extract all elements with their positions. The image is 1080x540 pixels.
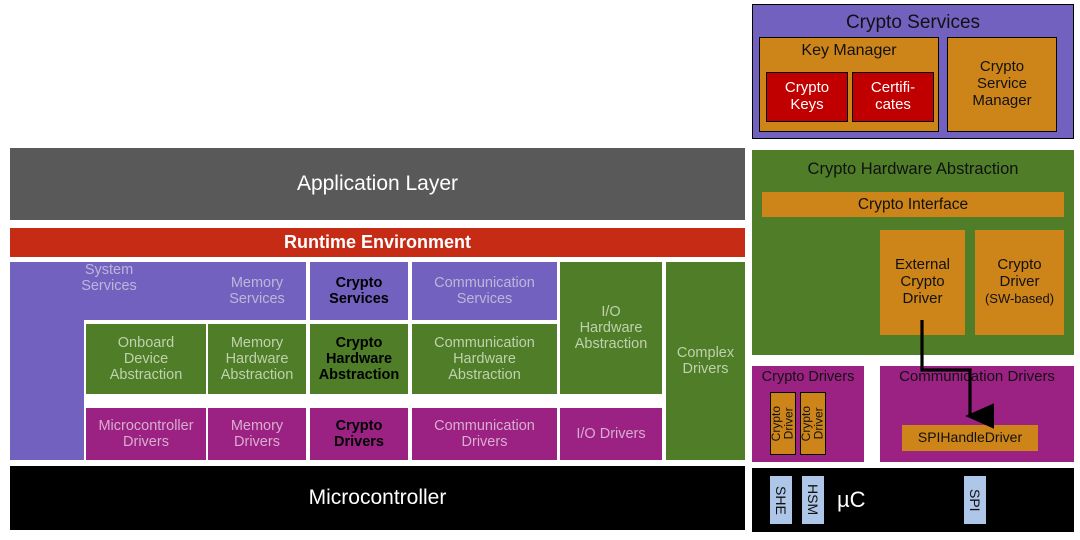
certificates-label: Certifi-cates [853, 80, 933, 114]
crypto-services-block: CryptoServices [310, 262, 408, 320]
memory-services-label: MemoryServices [208, 275, 306, 307]
spi-handle-driver-label: SPIHandleDriver [902, 430, 1038, 446]
crypto-drivers-block: CryptoDrivers [310, 408, 408, 460]
spi-chip: SPI [964, 476, 986, 524]
key-manager-title: Key Manager [760, 42, 938, 60]
runtime-environment-label: Runtime Environment [10, 232, 745, 252]
external-crypto-driver-box: ExternalCryptoDriver [880, 230, 965, 335]
io-hardware-abstraction-label: I/OHardwareAbstraction [560, 304, 662, 353]
system-services-label: SystemServices [10, 262, 208, 294]
microcontroller-label: Microcontroller [10, 486, 745, 510]
onboard-device-abstraction-block: OnboardDeviceAbstraction [86, 324, 206, 394]
crypto-hardware-abstraction-label: CryptoHardwareAbstraction [310, 335, 408, 384]
memory-hardware-abstraction-label: MemoryHardwareAbstraction [208, 335, 306, 384]
io-hardware-abstraction-block: I/OHardwareAbstraction [560, 262, 662, 394]
crypto-interface-box: Crypto Interface [762, 192, 1064, 217]
memory-services-block: MemoryServices [208, 262, 306, 320]
application-layer-label: Application Layer [10, 172, 745, 196]
crypto-services-label: CryptoServices [310, 275, 408, 307]
spi-handle-driver-box: SPIHandleDriver [902, 425, 1038, 451]
crypto-keys-label: CryptoKeys [767, 80, 847, 114]
io-drivers-label: I/O Drivers [560, 426, 662, 442]
crypto-keys-box: CryptoKeys [766, 72, 848, 122]
microcontroller-drivers-label: MicrocontrollerDrivers [86, 418, 206, 450]
complex-drivers-label: ComplexDrivers [666, 345, 745, 377]
communication-drivers-block: CommunicationDrivers [412, 408, 557, 460]
memory-drivers-block: MemoryDrivers [208, 408, 306, 460]
hsm-chip: HSM [802, 476, 824, 524]
detail-crypto-hwa-title: Crypto Hardware Abstraction [752, 160, 1074, 178]
crypto-driver-box-1-label: Crypto Driver [770, 406, 795, 441]
spi-chip-label: SPI [967, 489, 983, 512]
crypto-driver-box-2: Crypto Driver [800, 392, 826, 455]
crypto-driver-sw-label: CryptoDriver(SW-based) [975, 257, 1064, 307]
microcontroller-block: Microcontroller [10, 466, 745, 530]
crypto-driver-sw-box: CryptoDriver(SW-based) [975, 230, 1064, 335]
memory-drivers-label: MemoryDrivers [208, 418, 306, 450]
detail-crypto-drivers-title: Crypto Drivers [752, 369, 864, 385]
runtime-environment-block: Runtime Environment [10, 228, 745, 257]
communication-hardware-abstraction-block: CommunicationHardwareAbstraction [412, 324, 557, 394]
crypto-driver-box-2-label: Crypto Driver [800, 406, 825, 441]
she-chip-label: SHE [773, 486, 789, 515]
crypto-service-manager-box: CryptoServiceManager [947, 37, 1057, 132]
io-drivers-block: I/O Drivers [560, 408, 662, 460]
memory-hardware-abstraction-block: MemoryHardwareAbstraction [208, 324, 306, 394]
crypto-drivers-label: CryptoDrivers [310, 418, 408, 450]
external-crypto-driver-label: ExternalCryptoDriver [880, 257, 965, 307]
communication-hardware-abstraction-label: CommunicationHardwareAbstraction [412, 335, 557, 384]
microcontroller-drivers-block: MicrocontrollerDrivers [86, 408, 206, 460]
communication-services-block: CommunicationServices [412, 262, 557, 320]
crypto-driver-box-1: Crypto Driver [770, 392, 796, 455]
complex-drivers-block: ComplexDrivers [666, 262, 745, 460]
onboard-device-abstraction-label: OnboardDeviceAbstraction [86, 335, 206, 384]
crypto-driver-sw-name: CryptoDriver [997, 256, 1041, 290]
system-services-block: SystemServices [10, 262, 208, 320]
application-layer-block: Application Layer [10, 148, 745, 220]
detail-communication-drivers-title: Communication Drivers [880, 369, 1074, 386]
certificates-box: Certifi-cates [852, 72, 934, 122]
communication-drivers-label: CommunicationDrivers [412, 418, 557, 450]
microcontroller-hardware-label: µC [837, 487, 866, 513]
detail-crypto-services-title: Crypto Services [753, 12, 1073, 33]
communication-services-label: CommunicationServices [412, 275, 557, 307]
crypto-interface-label: Crypto Interface [762, 196, 1064, 213]
crypto-service-manager-label: CryptoServiceManager [948, 59, 1056, 109]
she-chip: SHE [770, 476, 792, 524]
crypto-driver-sw-sub: (SW-based) [985, 291, 1054, 306]
microcontroller-hardware-bar [752, 468, 1074, 532]
crypto-hardware-abstraction-block: CryptoHardwareAbstraction [310, 324, 408, 394]
hsm-chip-label: HSM [805, 484, 821, 515]
